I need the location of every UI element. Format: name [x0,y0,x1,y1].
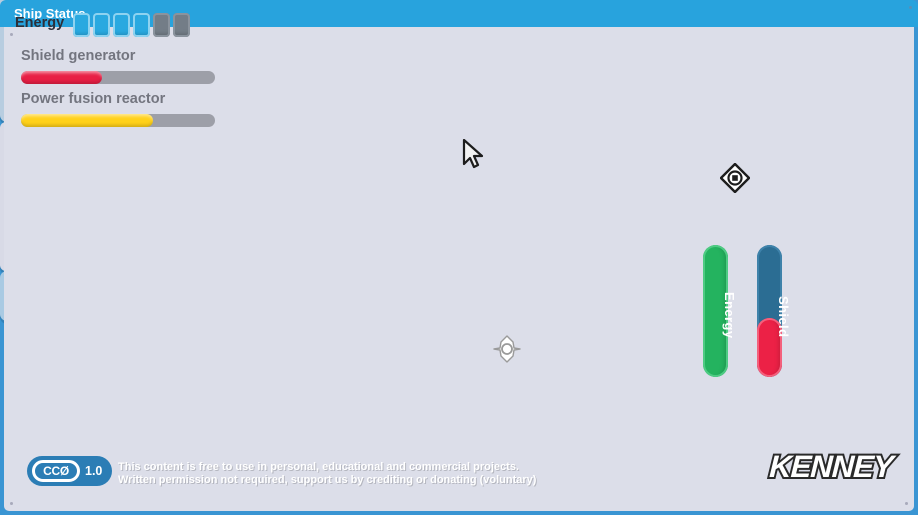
rivet-icon [10,502,13,505]
energy-segment [173,13,190,37]
power-fusion-reactor-bar [21,114,215,127]
energy-segment [93,13,110,37]
energy-segment [153,13,170,37]
rivet-icon [905,502,908,505]
crosshair-target-cursor [493,335,521,368]
rivet-icon [10,33,13,36]
energy-segment [113,13,130,37]
license-line-2: Written permission not required, support… [118,474,536,487]
energy-segment [73,13,90,37]
power-fusion-reactor-label: Power fusion reactor [21,91,165,107]
license-text: This content is free to use in personal,… [118,461,536,487]
license-line-1: This content is free to use in personal,… [118,461,536,474]
ui-canvas: Controls Gate A Gate B Gate C Open Close… [0,0,918,515]
shield-generator-label: Shield generator [21,48,135,64]
kenney-logo: KENNEY [766,443,897,491]
cc0-version: 1.0 [85,464,102,478]
cc0-badge: CCØ 1.0 [27,456,112,486]
ship-status-panel: Ship Status Shield generator Power fusio… [0,122,235,271]
shield-gauge-label: Shield [776,296,791,337]
shield-generator-bar-fill [21,71,102,84]
energy-segment [133,13,150,37]
energy-label: Energy [15,15,64,31]
energy-segment-bar [73,13,190,37]
cc0-label: CCØ [32,460,80,482]
shield-generator-bar [21,71,215,84]
rivet-icon [909,6,912,9]
energy-gauge-label: Energy [722,292,737,338]
gear-target-cursor [720,163,750,198]
power-fusion-reactor-bar-fill [21,114,153,127]
arrow-cursor [462,139,484,174]
